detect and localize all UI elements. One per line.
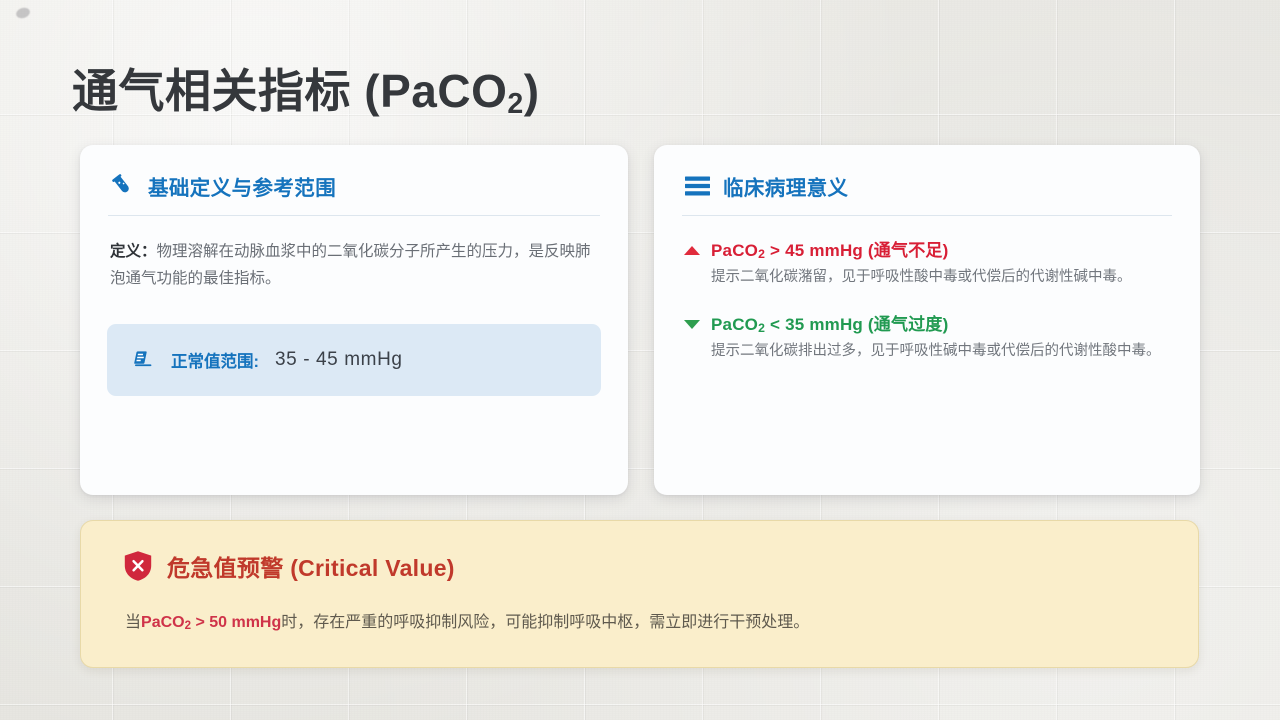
- clinical-card-header: 临床病理意义: [654, 145, 1200, 201]
- normal-range-label: 正常值范围:: [171, 348, 259, 372]
- page-title: 通气相关指标 (PaCO2): [72, 55, 540, 121]
- clinical-low-title-prefix: PaCO: [711, 315, 758, 334]
- critical-highlight-suffix: > 50 mmHg: [191, 614, 281, 631]
- critical-body-suffix: 时，存在严重的呼吸抑制风险，可能抑制呼吸中枢，需立即进行干预处理。: [281, 614, 809, 631]
- definition-body: 定义：物理溶解在动脉血浆中的二氧化碳分子所产生的压力，是反映肺泡通气功能的最佳指…: [80, 216, 628, 292]
- definition-card-header: 基础定义与参考范围: [80, 145, 628, 201]
- clinical-high-title-subscript: 2: [758, 247, 765, 261]
- critical-body-highlight: PaCO2 > 50 mmHg: [141, 614, 281, 631]
- list-icon: [684, 175, 711, 197]
- critical-banner-header: 危急值预警 (Critical Value): [81, 521, 1198, 583]
- clinical-item-high-text: PaCO2 > 45 mmHg (通气不足) 提示二氧化碳潴留，见于呼吸性酸中毒…: [711, 236, 1132, 290]
- clinical-high-title-suffix: > 45 mmHg (通气不足): [765, 241, 948, 260]
- definition-card-title: 基础定义与参考范围: [148, 171, 336, 201]
- definition-card: 基础定义与参考范围 定义：物理溶解在动脉血浆中的二氧化碳分子所产生的压力，是反映…: [80, 145, 628, 495]
- clinical-card-divider: [682, 215, 1172, 216]
- slide-canvas: 通气相关指标 (PaCO2) 基础定义与参考范围 定义：物理溶解在动脉血浆中的二…: [0, 0, 1280, 720]
- clinical-high-title-prefix: PaCO: [711, 241, 758, 260]
- triangle-up-icon: [684, 246, 700, 255]
- critical-banner-title: 危急值预警 (Critical Value): [167, 549, 455, 583]
- definition-lead-label: 定义：: [110, 243, 157, 260]
- paper-speck: [15, 6, 31, 20]
- critical-body-prefix: 当: [125, 614, 141, 631]
- clinical-card: 临床病理意义 PaCO2 > 45 mmHg (通气不足) 提示二氧化碳潴留，见…: [654, 145, 1200, 495]
- page-title-main: 通气相关指标 (PaCO: [72, 65, 507, 117]
- normal-range-value: 35 - 45 mmHg: [275, 349, 403, 371]
- clinical-item-low: PaCO2 < 35 mmHg (通气过度) 提示二氧化碳排出过多，见于呼吸性碱…: [654, 310, 1200, 364]
- clinical-item-low-description: 提示二氧化碳排出过多，见于呼吸性碱中毒或代偿后的代谢性酸中毒。: [711, 339, 1161, 364]
- clinical-item-high: PaCO2 > 45 mmHg (通气不足) 提示二氧化碳潴留，见于呼吸性酸中毒…: [654, 236, 1200, 290]
- clinical-item-low-title: PaCO2 < 35 mmHg (通气过度): [711, 310, 1161, 335]
- clinical-low-title-suffix: < 35 mmHg (通气过度): [765, 315, 948, 334]
- normal-range-box: 正常值范围: 35 - 45 mmHg: [107, 324, 601, 396]
- page-title-tail: ): [524, 65, 540, 117]
- clinical-item-high-description: 提示二氧化碳潴留，见于呼吸性酸中毒或代偿后的代谢性碱中毒。: [711, 265, 1132, 290]
- critical-value-banner: 危急值预警 (Critical Value) 当PaCO2 > 50 mmHg时…: [80, 520, 1199, 668]
- clinical-item-high-title: PaCO2 > 45 mmHg (通气不足): [711, 236, 1132, 261]
- page-title-subscript: 2: [507, 88, 523, 120]
- ruler-icon: [131, 348, 155, 372]
- shield-x-icon: [123, 550, 153, 582]
- vial-icon: [110, 173, 136, 199]
- clinical-item-low-text: PaCO2 < 35 mmHg (通气过度) 提示二氧化碳排出过多，见于呼吸性碱…: [711, 310, 1161, 364]
- clinical-low-title-subscript: 2: [758, 321, 765, 335]
- triangle-down-icon: [684, 320, 700, 329]
- critical-banner-body: 当PaCO2 > 50 mmHg时，存在严重的呼吸抑制风险，可能抑制呼吸中枢，需…: [81, 583, 1198, 636]
- critical-highlight-subscript: 2: [185, 620, 191, 632]
- definition-body-text: 物理溶解在动脉血浆中的二氧化碳分子所产生的压力，是反映肺泡通气功能的最佳指标。: [110, 243, 591, 287]
- critical-highlight-prefix: PaCO: [141, 614, 185, 631]
- clinical-card-title: 临床病理意义: [723, 171, 848, 201]
